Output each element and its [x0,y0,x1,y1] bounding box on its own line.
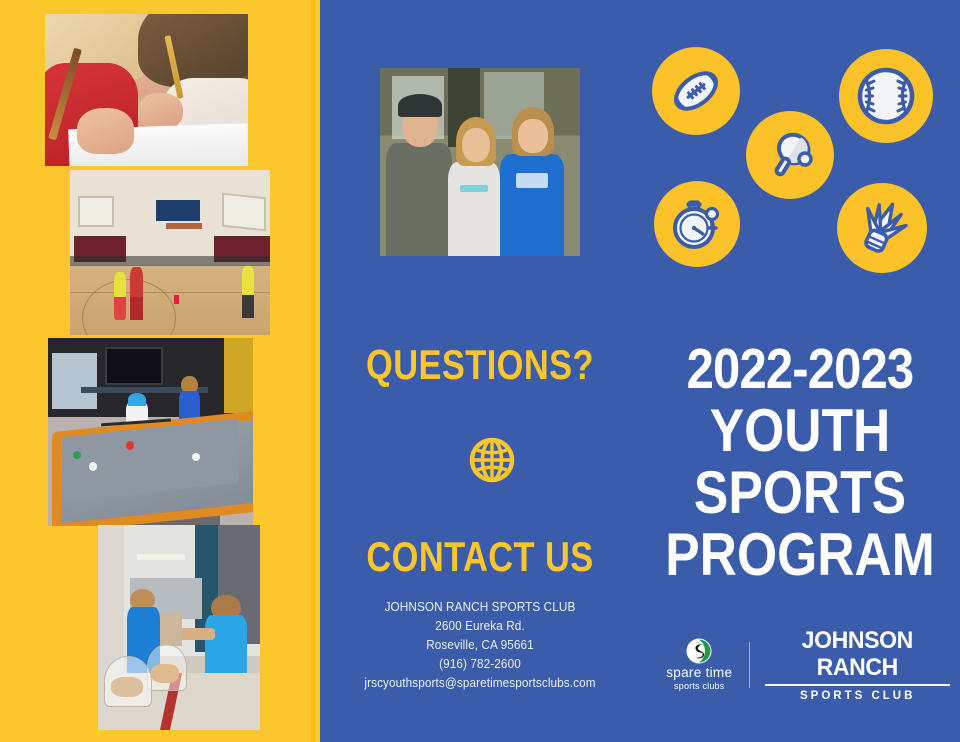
logo-divider [749,642,750,688]
spare-time-subtitle: sports clubs [674,680,724,692]
logo-lockup: spare time sports clubs JOHNSON RANCH SP… [660,636,950,694]
program-title-line-4: PROGRAM [662,524,937,586]
photo-snack-bar [98,525,260,730]
photo-staff-group [380,68,580,256]
program-title-line-1: 2022-2023 [662,338,937,400]
contact-club-name: JOHNSON RANCH SPORTS CLUB [330,598,631,617]
photo-gym-activity [70,170,270,335]
program-title-line-3: SPORTS [662,462,937,524]
globe-icon [469,437,515,483]
stopwatch-icon-badge [654,181,740,267]
baseball-icon [853,63,919,129]
contact-street: 2600 Eureka Rd. [330,617,631,636]
photo-pool-table [48,338,253,526]
flyer-canvas: QUESTIONS? CONTACT US JOHNSON RANCH SPOR… [0,0,960,742]
questions-heading: QUESTIONS? [349,342,611,388]
johnson-ranch-rule [765,684,950,686]
contact-phone[interactable]: (916) 782-2600 [330,655,631,674]
contact-city-state-zip: Roseville, CA 95661 [330,636,631,655]
contact-heading: CONTACT US [349,534,611,580]
stopwatch-icon [667,194,727,254]
shuttlecock-icon-badge [837,183,927,273]
spare-time-logo: spare time sports clubs [660,638,739,692]
baseball-icon-badge [839,49,933,143]
program-title-line-2: YOUTH [662,400,937,462]
johnson-ranch-name: JOHNSON RANCH [769,627,946,681]
spare-time-name: spare time [666,666,732,680]
football-icon [666,61,726,121]
ping-pong-icon-badge [746,111,834,199]
contact-email[interactable]: jrscyouthsports@sparetimesportsclubs.com [330,674,631,693]
johnson-ranch-logo: JOHNSON RANCH SPORTS CLUB [765,627,950,703]
ping-pong-icon [761,126,819,184]
shuttlecock-icon [852,198,912,258]
panel-divider-stripe [311,0,315,742]
johnson-ranch-subtitle: SPORTS CLUB [765,689,950,703]
football-icon-badge [652,47,740,135]
photo-kids-drawing [45,14,248,166]
spare-time-swoosh-icon [686,638,712,664]
contact-details-block: JOHNSON RANCH SPORTS CLUB 2600 Eureka Rd… [330,598,631,693]
program-title: 2022-2023 YOUTH SPORTS PROGRAM [662,338,937,586]
